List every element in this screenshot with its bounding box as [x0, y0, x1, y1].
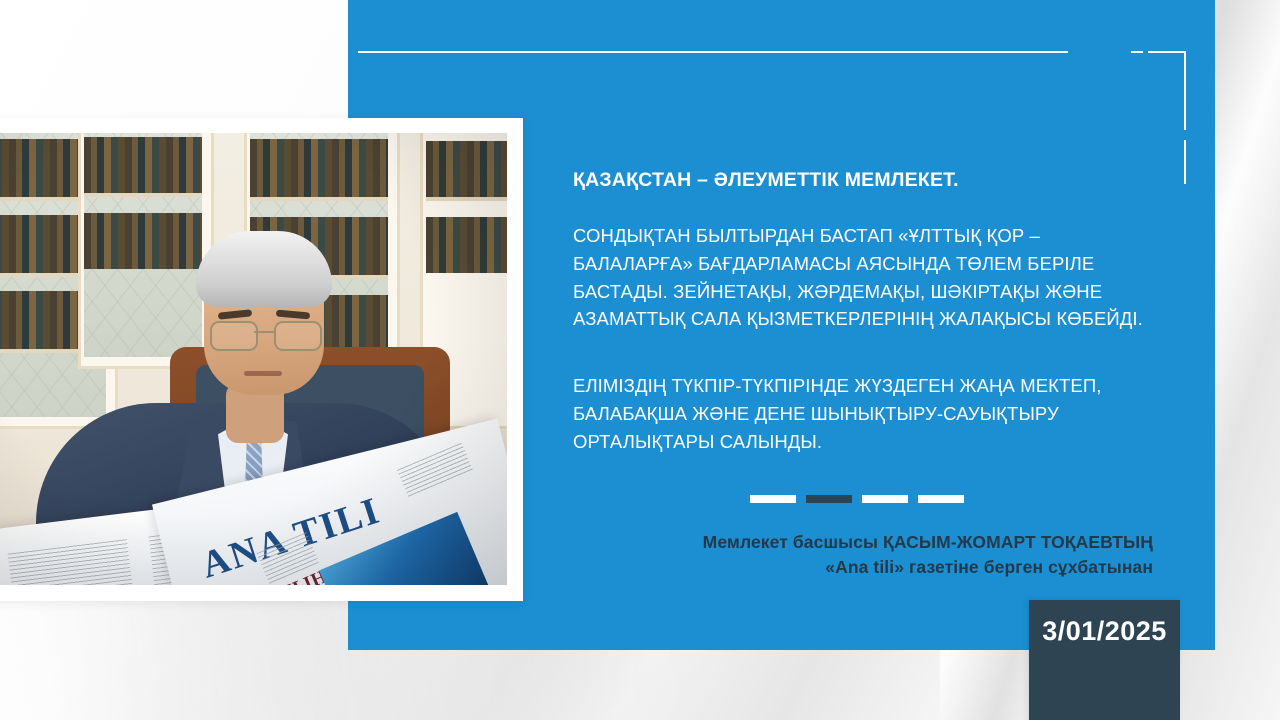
attribution: Мемлекет басшысы ҚАСЫМ-ЖОМАРТ ТОҚАЕВТЫҢ … [573, 530, 1153, 580]
divider-dash-2 [806, 495, 852, 503]
photo-vignette [0, 133, 507, 585]
headline: ҚАЗАҚСТАН – ӘЛЕУМЕТТІК МЕМЛЕКЕТ. [573, 168, 1153, 192]
attribution-line-1: Мемлекет басшысы ҚАСЫМ-ЖОМАРТ ТОҚАЕВТЫҢ [573, 530, 1153, 555]
date-badge: 3/01/2025 [1029, 600, 1180, 720]
decorative-bracket-vertical-lower [1184, 140, 1186, 184]
photo-president-reading-newspaper: ANA TILI ҚАЗАҚТЫҢ ЖАНЫ [0, 133, 507, 585]
date-value: 3/01/2025 [1029, 616, 1180, 647]
divider-dash-3 [862, 495, 908, 503]
body-paragraph-1: СОНДЫҚТАН БЫЛТЫРДАН БАСТАП «ҰЛТТЫҚ ҚОР –… [573, 222, 1153, 333]
dash-divider [750, 495, 965, 503]
slide-canvas: ANA TILI ҚАЗАҚТЫҢ ЖАНЫ ҚАЗАҚСТАН – ӘЛЕУМ… [0, 0, 1280, 720]
divider-dash-1 [750, 495, 796, 503]
body-paragraph-2: ЕЛІМІЗДІҢ ТҮКПІР-ТҮКПІРІНДЕ ЖҮЗДЕГЕН ЖАҢ… [573, 372, 1153, 455]
divider-dash-4 [918, 495, 964, 503]
attribution-line-2: «Ana tili» газетіне берген сұхбатынан [573, 555, 1153, 580]
decorative-bracket-vertical-upper [1184, 51, 1186, 130]
